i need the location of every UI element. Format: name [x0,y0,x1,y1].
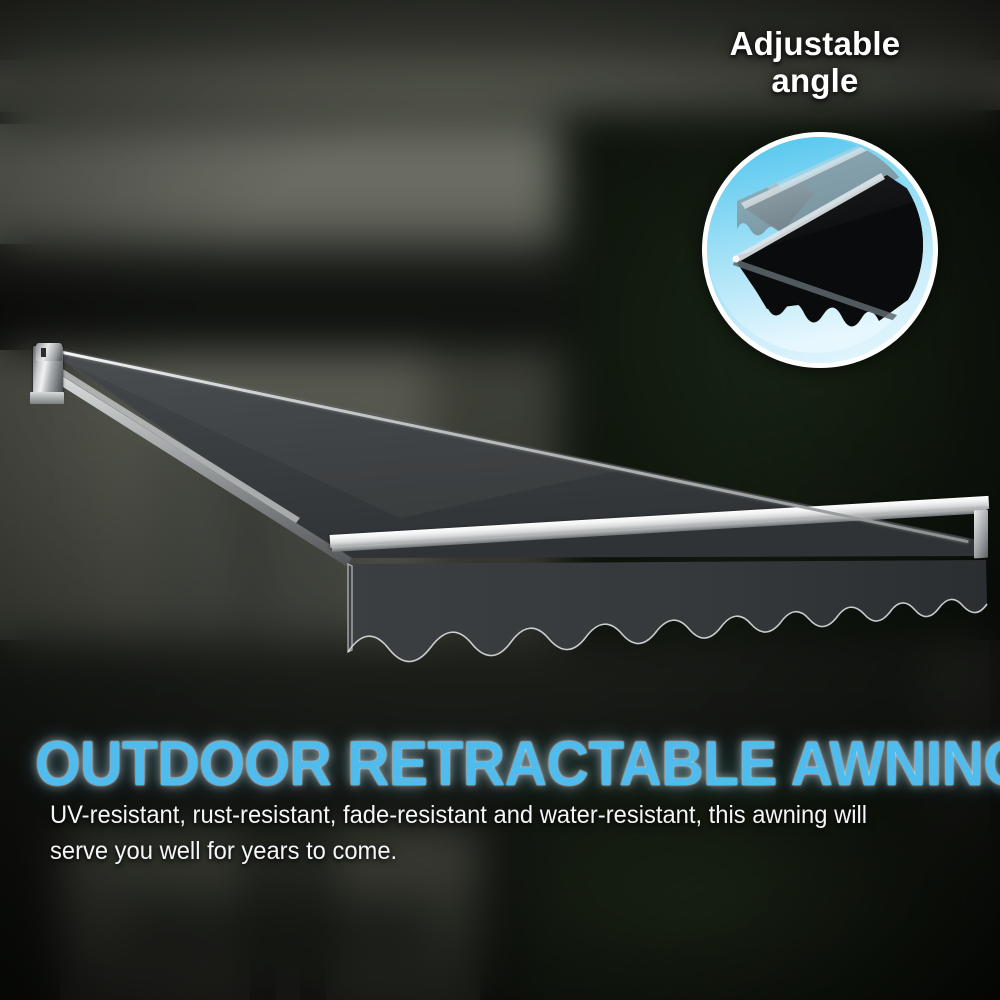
product-description: UV-resistant, rust-resistant, fade-resis… [50,798,905,869]
awning-bracket-base-plate [30,392,64,404]
awning-bracket-head [36,343,62,361]
product-marketing-image: Adjustable angle [0,0,1000,1000]
feature-callout-line2: angle [640,63,990,100]
callout-pivot-point [733,256,740,263]
adjustable-angle-callout [702,132,938,368]
awning-product [0,320,1000,700]
awning-bracket-notch [41,348,46,357]
adjustable-angle-illustration [707,137,923,353]
awning-front-bar-end-cap [974,510,988,559]
page-title: OUTDOOR RETRACTABLE AWNING [35,728,965,800]
awning-valance-left-edge [348,564,352,652]
feature-callout-title: Adjustable angle [640,26,990,100]
feature-callout-line1: Adjustable [640,26,990,63]
